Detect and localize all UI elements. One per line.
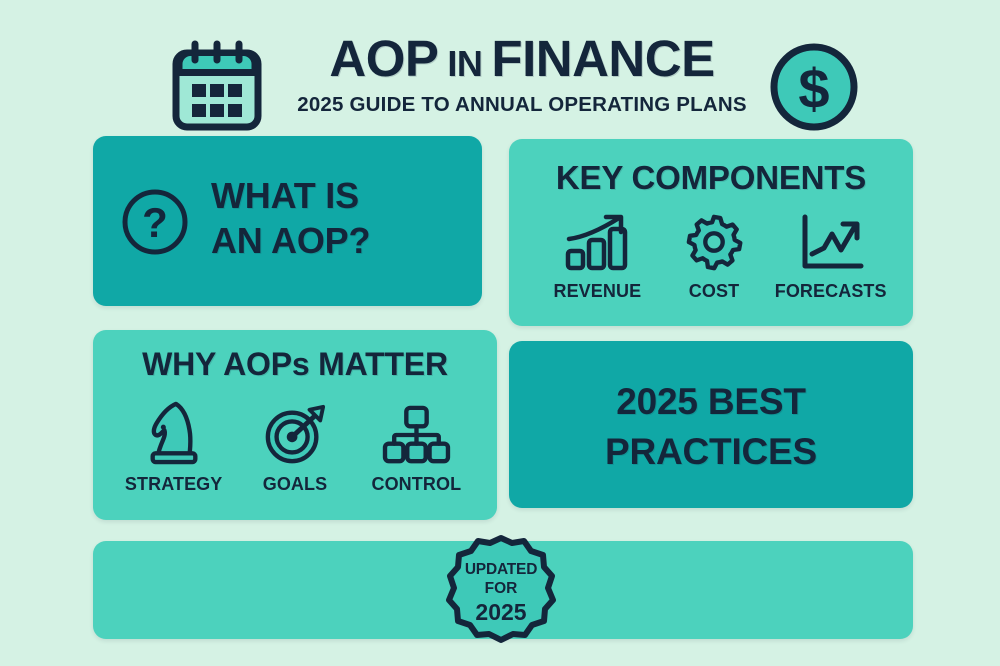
org-chart-icon xyxy=(356,394,477,466)
card-key-components[interactable]: KEY COMPONENTS REVENUE xyxy=(509,139,913,326)
starburst-badge-icon xyxy=(438,534,564,652)
why-item-goals[interactable]: GOALS xyxy=(234,394,355,495)
card-best-line1: 2025 BEST xyxy=(509,377,913,427)
title-main: AOP xyxy=(329,30,438,87)
key-component-forecasts-label: FORECASTS xyxy=(772,281,889,302)
header: AOPINFINANCE 2025 GUIDE TO ANNUAL OPERAT… xyxy=(0,14,1000,124)
card-best-practices[interactable]: 2025 BEST PRACTICES xyxy=(509,341,913,508)
why-item-strategy[interactable]: STRATEGY xyxy=(113,394,234,495)
card-what-heading: WHAT IS AN AOP? xyxy=(211,173,370,264)
why-item-goals-label: GOALS xyxy=(234,474,355,495)
why-item-control[interactable]: CONTROL xyxy=(356,394,477,495)
card-best-line2: PRACTICES xyxy=(509,427,913,477)
page-subtitle: 2025 GUIDE TO ANNUAL OPERATING PLANS xyxy=(282,93,762,117)
bar-chart-growth-icon xyxy=(539,209,656,271)
why-item-control-label: CONTROL xyxy=(356,474,477,495)
key-components-items: REVENUE COST xyxy=(539,209,889,302)
card-what-line1: WHAT IS xyxy=(211,173,370,218)
infographic-canvas: AOPINFINANCE 2025 GUIDE TO ANNUAL OPERAT… xyxy=(0,0,1000,666)
card-what-line2: AN AOP? xyxy=(211,218,370,263)
key-component-revenue[interactable]: REVENUE xyxy=(539,209,656,302)
key-component-cost-label: COST xyxy=(656,281,773,302)
title-tail: FINANCE xyxy=(491,30,714,87)
page-title: AOPINFINANCE xyxy=(282,32,762,86)
calendar-icon xyxy=(167,40,267,134)
target-dart-icon xyxy=(234,394,355,466)
card-key-heading: KEY COMPONENTS xyxy=(509,159,913,197)
question-mark-circle-icon: ? xyxy=(120,187,190,257)
line-chart-forecast-icon xyxy=(772,209,889,271)
card-why-heading: WHY AOPs MATTER xyxy=(93,346,497,383)
why-matter-items: STRATEGY GOALS xyxy=(113,394,477,495)
card-best-heading: 2025 BEST PRACTICES xyxy=(509,377,913,477)
key-component-cost[interactable]: COST xyxy=(656,209,773,302)
gear-icon xyxy=(656,209,773,271)
card-what-is-an-aop[interactable]: ? WHAT IS AN AOP? xyxy=(93,136,482,306)
dollar-coin-icon: $ xyxy=(768,41,860,133)
title-connector: IN xyxy=(447,43,482,84)
key-component-forecasts[interactable]: FORECASTS xyxy=(772,209,889,302)
title-block: AOPINFINANCE 2025 GUIDE TO ANNUAL OPERAT… xyxy=(282,32,762,117)
card-why-aops-matter[interactable]: WHY AOPs MATTER STRATEGY xyxy=(93,330,497,520)
key-component-revenue-label: REVENUE xyxy=(539,281,656,302)
svg-text:$: $ xyxy=(798,57,829,120)
chess-knight-icon xyxy=(113,394,234,466)
svg-text:?: ? xyxy=(142,199,168,246)
why-item-strategy-label: STRATEGY xyxy=(113,474,234,495)
